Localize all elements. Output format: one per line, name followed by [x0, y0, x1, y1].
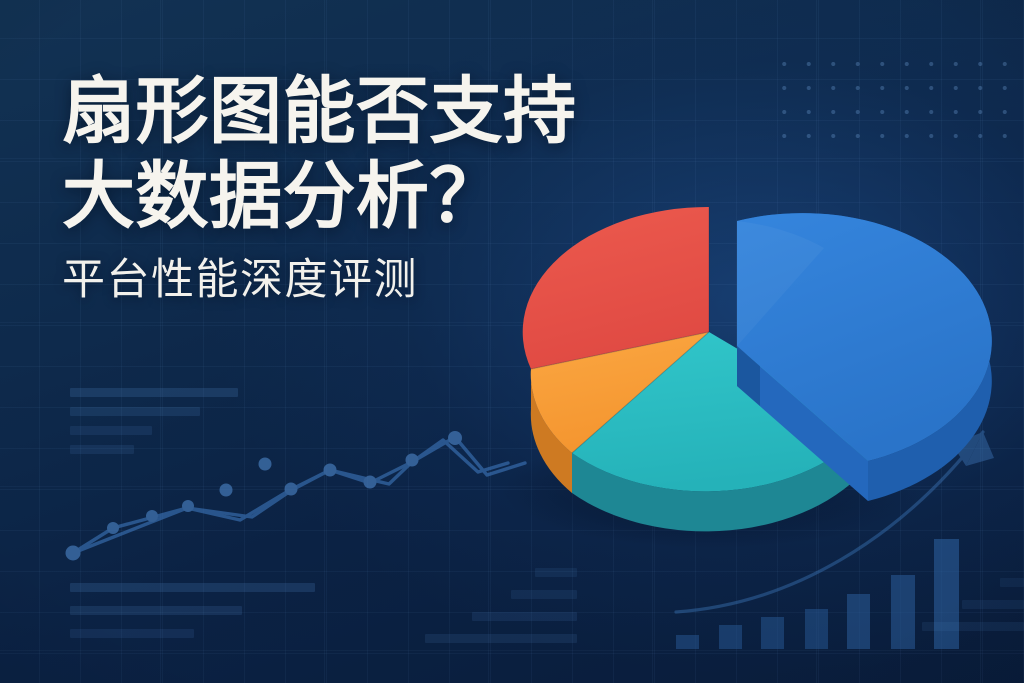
skeleton-bar [70, 388, 238, 397]
poster-headline: 扇形图能否支持 大数据分析？ [62, 70, 722, 239]
background-growth-bars [676, 539, 959, 649]
skeleton-bar [70, 426, 152, 435]
skeleton-bar [70, 445, 134, 454]
background-skeleton-bars-center [425, 568, 577, 643]
headline-line-1: 扇形图能否支持 [62, 71, 577, 152]
skeleton-bar [70, 407, 200, 416]
skeleton-bar [70, 629, 194, 638]
skeleton-bar [70, 583, 315, 592]
background-trend-line [66, 431, 526, 561]
poster-subheadline: 平台性能深度评测 [62, 255, 722, 307]
dot-matrix-icon [768, 48, 1014, 152]
headline-line-2: 大数据分析？ [62, 155, 722, 240]
headline-block: 扇形图能否支持 大数据分析？ 平台性能深度评测 [62, 70, 722, 307]
poster-canvas: 扇形图能否支持 大数据分析？ 平台性能深度评测 [0, 0, 1024, 683]
skeleton-bar [70, 606, 242, 615]
background-skeleton-bars-right [922, 578, 1024, 631]
